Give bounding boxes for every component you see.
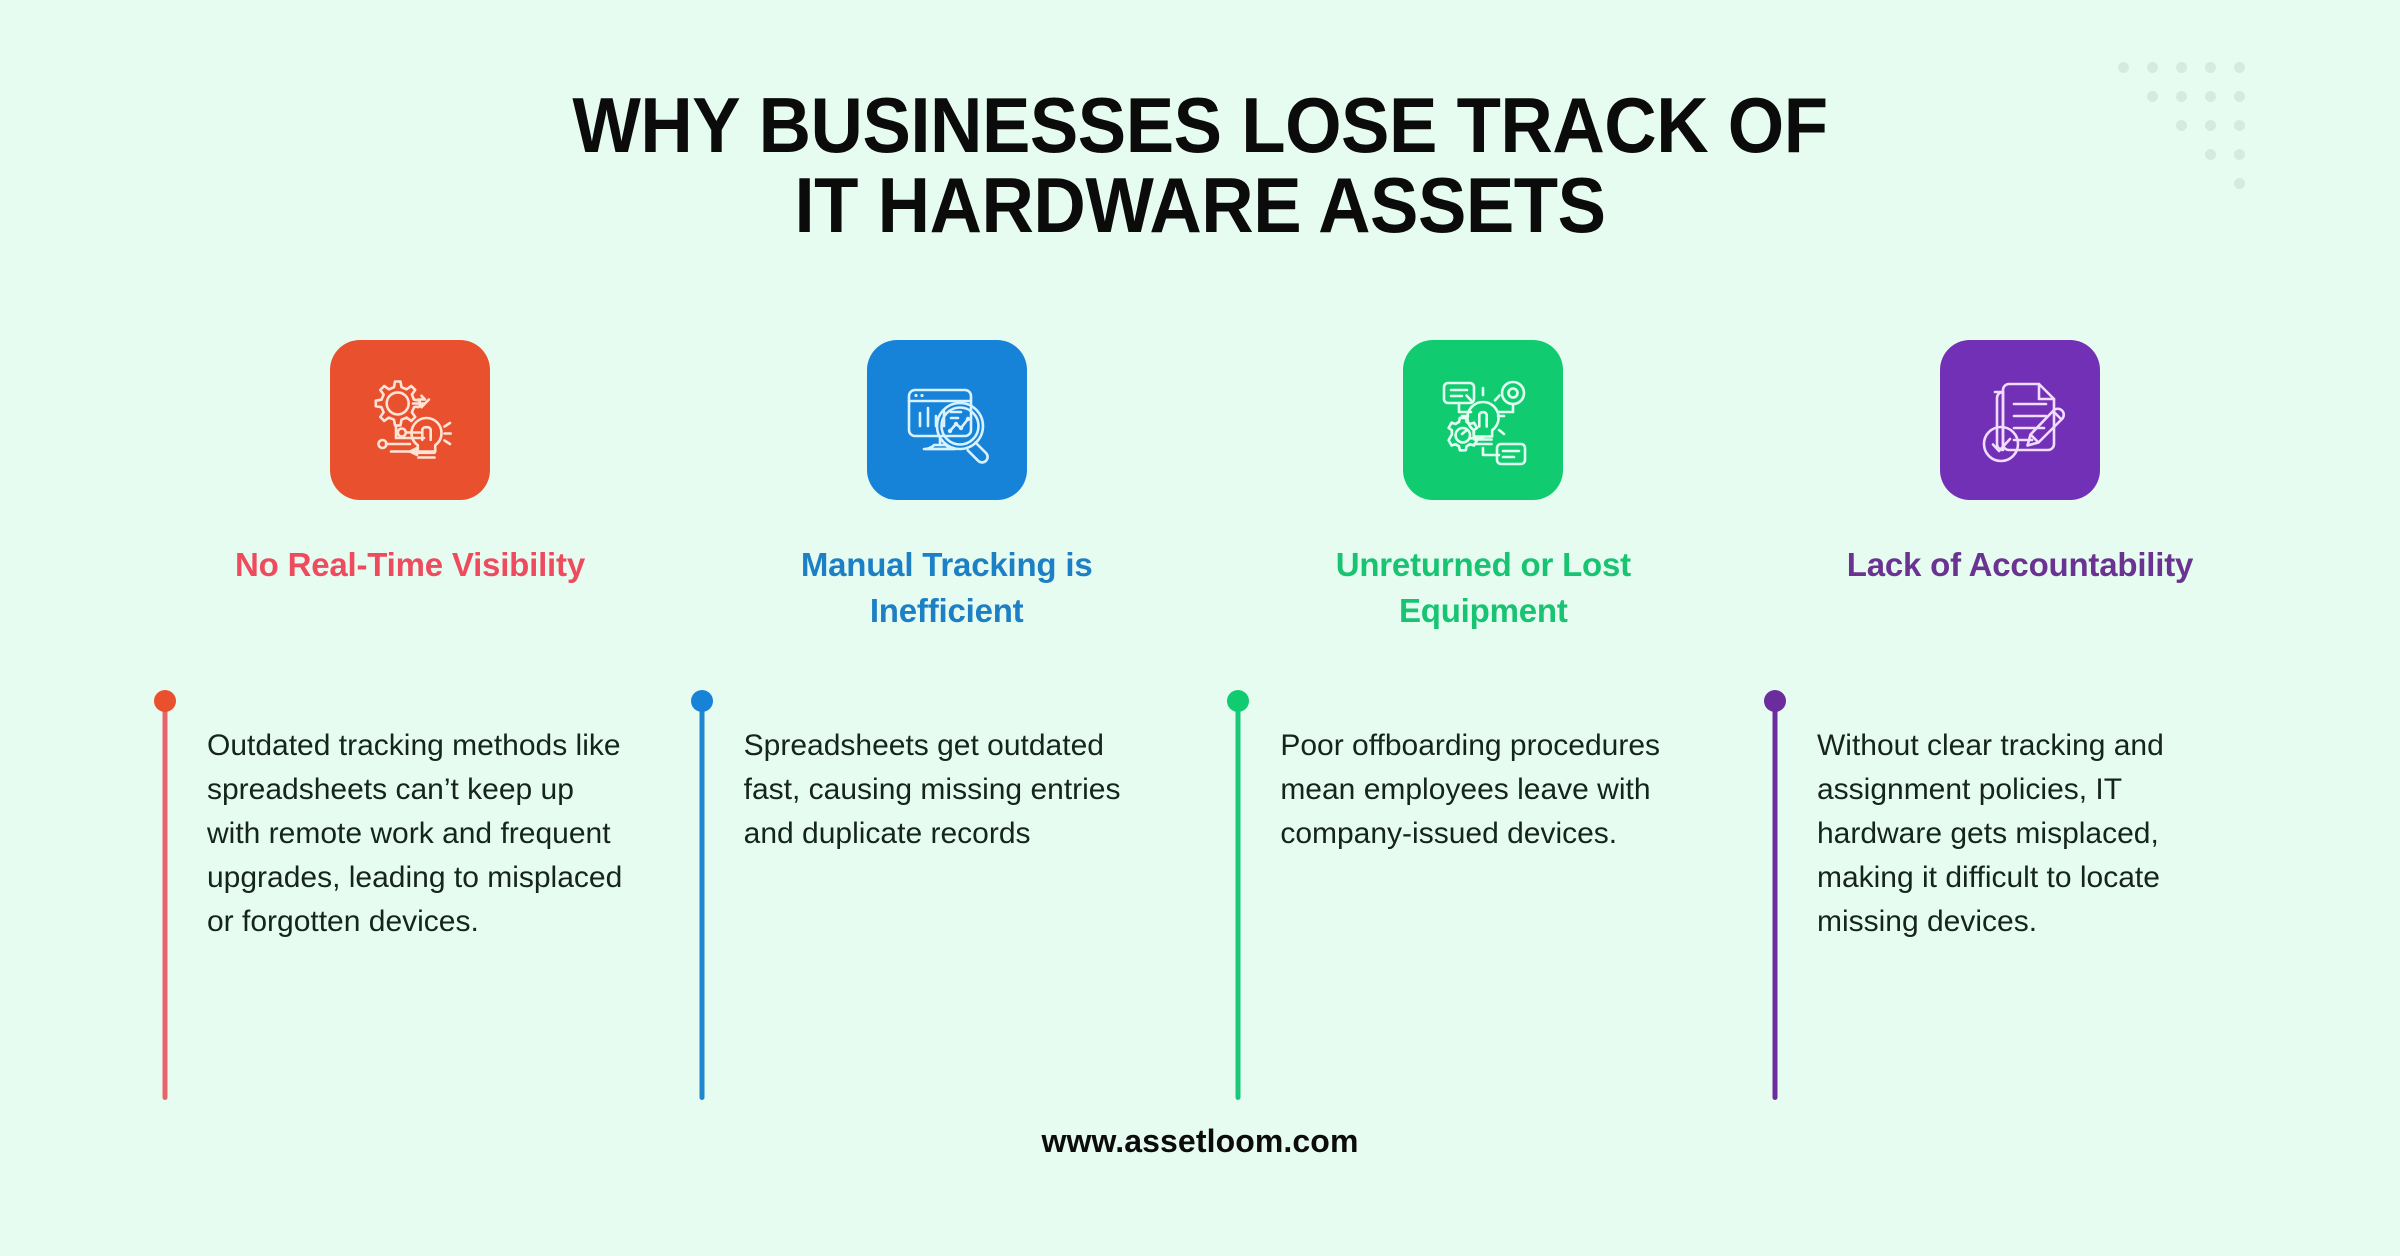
card-heading-1: No Real-Time Visibility <box>200 542 620 588</box>
icon-tile-2 <box>867 340 1027 500</box>
icon-tile-3 <box>1403 340 1563 500</box>
timeline-stick-2 <box>687 690 717 1100</box>
reason-card-unreturned-or-lost-equipment: Unreturned or Lost Equipment <box>1223 340 1743 633</box>
icon-tile-4 <box>1940 340 2100 500</box>
reason-detail-3: Poor offboarding procedures mean employe… <box>1223 690 1743 1100</box>
monitor-chart-magnifier-icon <box>895 368 999 472</box>
decor-dot <box>2234 62 2245 73</box>
reason-card-lack-of-accountability: Lack of Accountability <box>1760 340 2280 633</box>
timeline-stick-1 <box>150 690 180 1100</box>
reason-body-1: Outdated tracking methods like spreadshe… <box>207 690 627 944</box>
decor-dot <box>2147 62 2158 73</box>
timeline-stick-4 <box>1760 690 1790 1100</box>
reason-card-manual-tracking-is-inefficient: Manual Tracking is Inefficient <box>687 340 1207 633</box>
timeline-line-2 <box>699 701 704 1100</box>
timeline-stick-3 <box>1223 690 1253 1100</box>
icon-tile-1 <box>330 340 490 500</box>
timeline-line-4 <box>1772 701 1777 1100</box>
reason-body-2: Spreadsheets get outdated fast, causing … <box>744 690 1164 856</box>
reason-body-3: Poor offboarding procedures mean employe… <box>1280 690 1700 856</box>
timeline-line-3 <box>1236 701 1241 1100</box>
gear-lightbulb-circuit-icon <box>358 368 462 472</box>
lightbulb-network-gear-icon <box>1431 368 1535 472</box>
page-title-line-1: WHY BUSINESSES LOSE TRACK OF <box>84 86 2316 166</box>
decor-dot <box>2205 62 2216 73</box>
timeline-dot-2 <box>691 690 713 712</box>
reason-body-4: Without clear tracking and assignment po… <box>1817 690 2237 944</box>
reason-detail-4: Without clear tracking and assignment po… <box>1760 690 2280 1100</box>
page-title: WHY BUSINESSES LOSE TRACK OF IT HARDWARE… <box>0 86 2400 245</box>
card-heading-4: Lack of Accountability <box>1810 542 2230 588</box>
decor-dot <box>2176 62 2187 73</box>
reason-card-no-real-time-visibility: No Real-Time Visibility <box>150 340 670 633</box>
decor-dot <box>2118 62 2129 73</box>
reason-detail-1: Outdated tracking methods like spreadshe… <box>150 690 670 1100</box>
footer-website-url[interactable]: www.assetloom.com <box>0 1123 2400 1160</box>
timeline-dot-1 <box>154 690 176 712</box>
timeline-dot-3 <box>1227 690 1249 712</box>
reason-detail-2: Spreadsheets get outdated fast, causing … <box>687 690 1207 1100</box>
timeline-line-1 <box>163 701 168 1100</box>
reason-details: Outdated tracking methods like spreadshe… <box>150 690 2280 1100</box>
reason-cards: No Real-Time Visibility <box>150 340 2280 633</box>
document-pencil-check-icon <box>1968 368 2072 472</box>
card-heading-3: Unreturned or Lost Equipment <box>1273 542 1693 633</box>
page-title-line-2: IT HARDWARE ASSETS <box>84 166 2316 246</box>
card-heading-2: Manual Tracking is Inefficient <box>737 542 1157 633</box>
timeline-dot-4 <box>1764 690 1786 712</box>
